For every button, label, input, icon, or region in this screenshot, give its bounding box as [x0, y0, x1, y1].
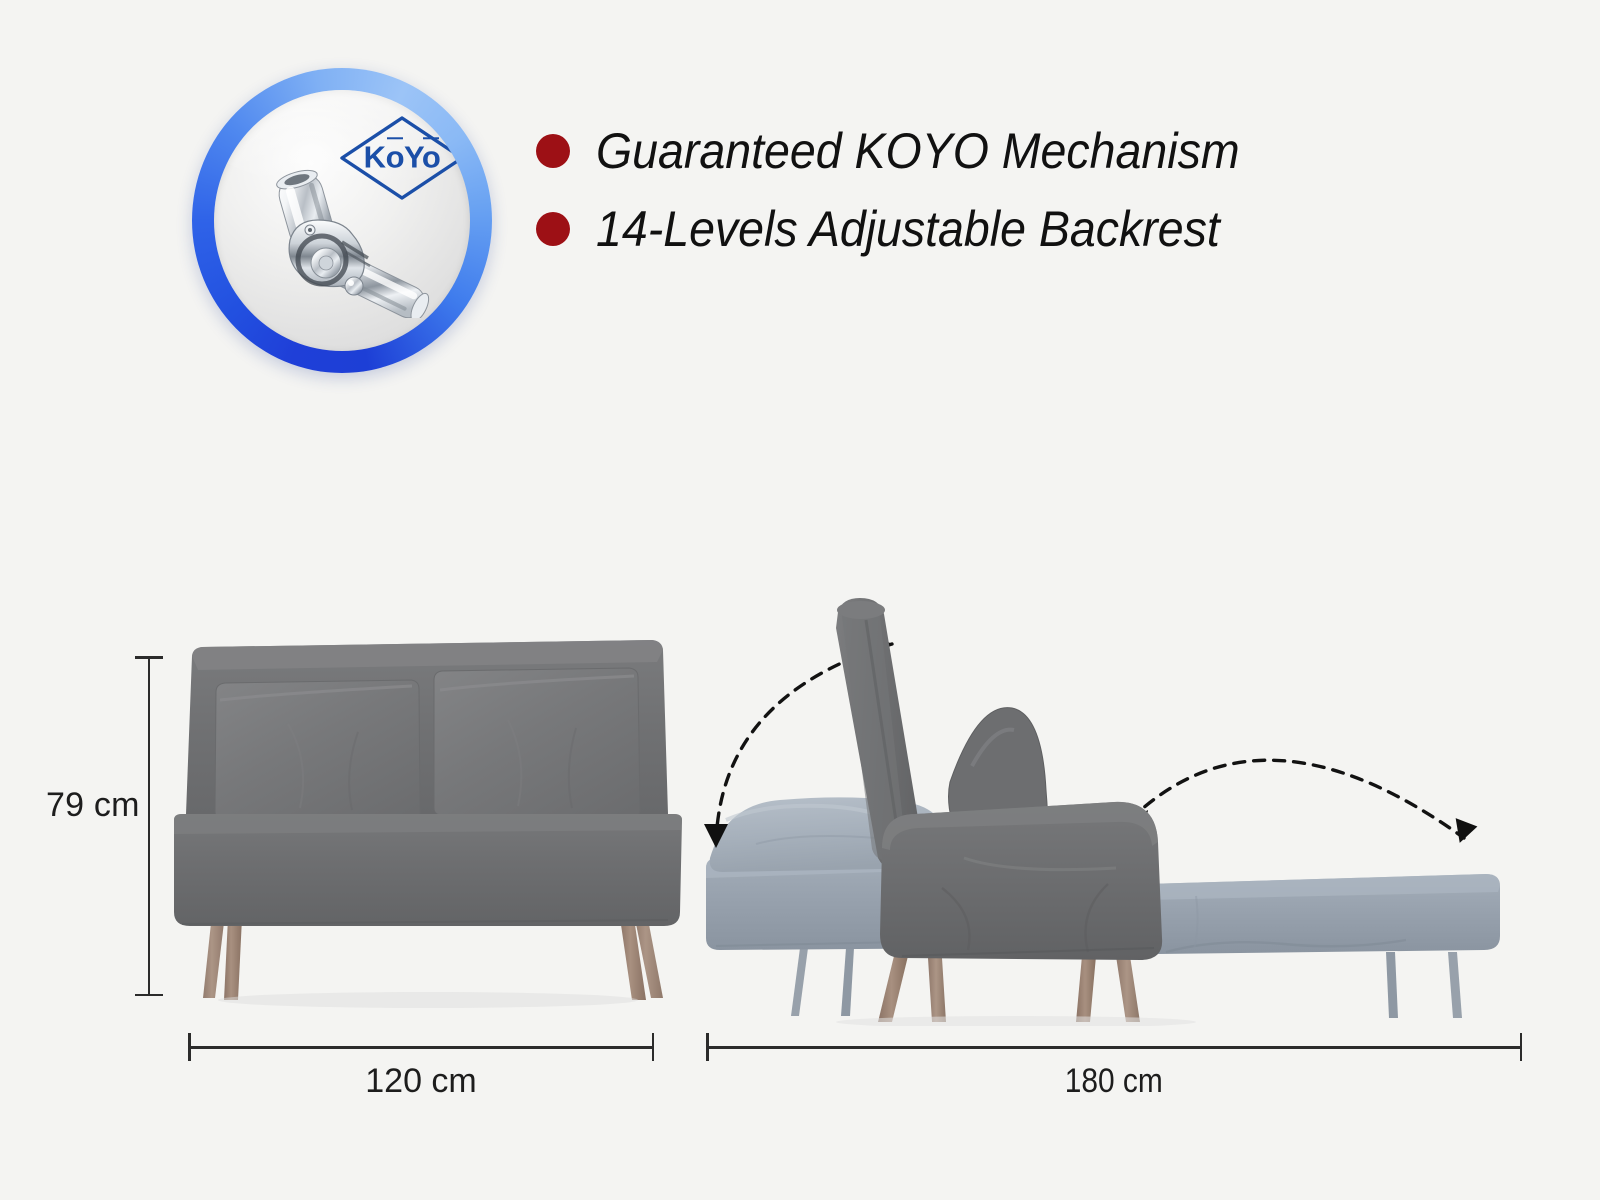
seat-unfold-arrow: [1126, 760, 1479, 843]
chrome-hinge-mechanism-icon: [236, 168, 456, 318]
dimension-cap-left: [188, 1033, 191, 1061]
bed-platform-right: [1144, 874, 1500, 1018]
dimension-cap-right: [652, 1033, 655, 1061]
koyo-mechanism-badge: KoYo: [192, 68, 492, 373]
feature-label: 14-Levels Adjustable Backrest: [596, 204, 1220, 254]
dimension-cap-top: [135, 656, 163, 659]
bed-length-dimension-label: 180 cm: [706, 1062, 1522, 1101]
bullet-dot-icon: [536, 212, 570, 246]
dimension-cap-right: [1520, 1033, 1523, 1061]
height-dimension-label: 79 cm: [46, 786, 140, 825]
sofa-width-dimension-label: 120 cm: [188, 1062, 654, 1101]
bullet-dot-icon: [536, 134, 570, 168]
badge-face: KoYo: [214, 90, 470, 351]
feature-item-mechanism: Guaranteed KOYO Mechanism: [536, 112, 1376, 190]
height-dimension-line: [148, 656, 150, 996]
sofa-width-dimension-line: [188, 1046, 654, 1049]
dimension-cap-left: [706, 1033, 709, 1061]
feature-list: Guaranteed KOYO Mechanism 14-Levels Adju…: [536, 112, 1376, 268]
sofa-legs: [203, 914, 663, 1000]
dimension-cap-bottom: [135, 994, 163, 997]
feature-label: Guaranteed KOYO Mechanism: [596, 126, 1240, 176]
infographic-canvas: KoYo: [0, 0, 1600, 1200]
sofa-bed-side-view-illustration: [696, 596, 1526, 1026]
bed-length-dimension-line: [706, 1046, 1522, 1049]
feature-item-backrest: 14-Levels Adjustable Backrest: [536, 190, 1376, 268]
sofa-front-view-illustration: [168, 628, 688, 1028]
seat-block: [878, 802, 1162, 1022]
